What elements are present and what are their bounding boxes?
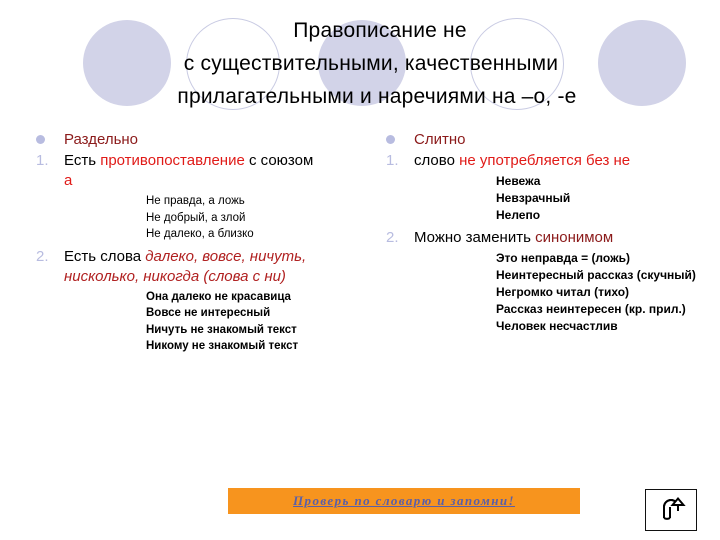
title-line-2: с существительными, качественными <box>0 47 720 80</box>
example-item: Никому не знакомый текст <box>114 338 354 355</box>
left-item-2: 2. Есть слова далеко, вовсе, ничуть, нис… <box>18 247 354 287</box>
example-item: Не далеко, а близко <box>114 226 354 243</box>
left-heading-row: Раздельно <box>18 130 354 149</box>
example-item: Неинтересный рассказ (скучный) <box>464 267 714 284</box>
right-item-1-number: 1. <box>368 151 414 171</box>
title-line-1: Правописание не <box>0 14 720 47</box>
example-item: Нелепо <box>464 207 714 224</box>
left-item-2-examples: Она далеко не красавица Вовсе не интерес… <box>18 289 354 355</box>
right-item-2-number: 2. <box>368 228 414 248</box>
example-item: Негромко читал (тихо) <box>464 284 714 301</box>
right-heading-row: Слитно <box>368 130 714 149</box>
example-item: Невежа <box>464 173 714 190</box>
right-heading-label: Слитно <box>414 130 465 149</box>
title-line-3: прилагательными и наречиями на –о, -е <box>0 80 720 113</box>
left-item-1-number: 1. <box>18 151 64 171</box>
right-item-1: 1. слово не употребляется без не <box>368 151 714 171</box>
example-item: Человек несчастлив <box>464 318 714 335</box>
right-item-1-examples: Невежа Невзрачный Нелепо <box>368 173 714 224</box>
slide-root: Правописание не с существительными, каче… <box>0 0 720 540</box>
right-item-2-examples: Это неправда = (ложь) Неинтересный расск… <box>368 250 714 335</box>
reminder-banner: Проверь по словарю и запомни! <box>228 488 580 514</box>
left-item-1-examples: Не правда, а ложь Не добрый, а злой Не д… <box>18 193 354 243</box>
example-item: Не добрый, а злой <box>114 210 354 227</box>
example-item: Не правда, а ложь <box>114 193 354 210</box>
left-item-1-text: Есть противопоставление с союзом а <box>64 151 322 191</box>
return-button[interactable] <box>645 489 697 531</box>
example-item: Ничуть не знакомый текст <box>114 322 354 339</box>
content-columns: Раздельно 1. Есть противопоставление с с… <box>0 130 720 475</box>
example-item: Невзрачный <box>464 190 714 207</box>
column-together: Слитно 1. слово не употребляется без не … <box>360 130 720 475</box>
reminder-banner-text: Проверь по словарю и запомни! <box>293 493 515 509</box>
u-turn-arrow-icon <box>656 496 686 524</box>
right-item-2: 2. Можно заменить синонимом <box>368 228 714 248</box>
example-item: Вовсе не интересный <box>114 305 354 322</box>
left-item-2-text: Есть слова далеко, вовсе, ничуть, нискол… <box>64 247 322 287</box>
bullet-icon <box>368 131 414 149</box>
column-separate: Раздельно 1. Есть противопоставление с с… <box>0 130 360 475</box>
example-item: Она далеко не красавица <box>114 289 354 306</box>
example-item: Это неправда = (ложь) <box>464 250 714 267</box>
right-item-1-text: слово не употребляется без не <box>414 151 630 171</box>
bullet-icon <box>18 131 64 149</box>
example-item: Рассказ неинтересен (кр. прил.) <box>464 301 714 318</box>
right-item-2-text: Можно заменить синонимом <box>414 228 613 248</box>
slide-title: Правописание не с существительными, каче… <box>0 14 720 113</box>
left-item-1: 1. Есть противопоставление с союзом а <box>18 151 354 191</box>
left-heading-label: Раздельно <box>64 130 138 149</box>
left-item-2-number: 2. <box>18 247 64 267</box>
